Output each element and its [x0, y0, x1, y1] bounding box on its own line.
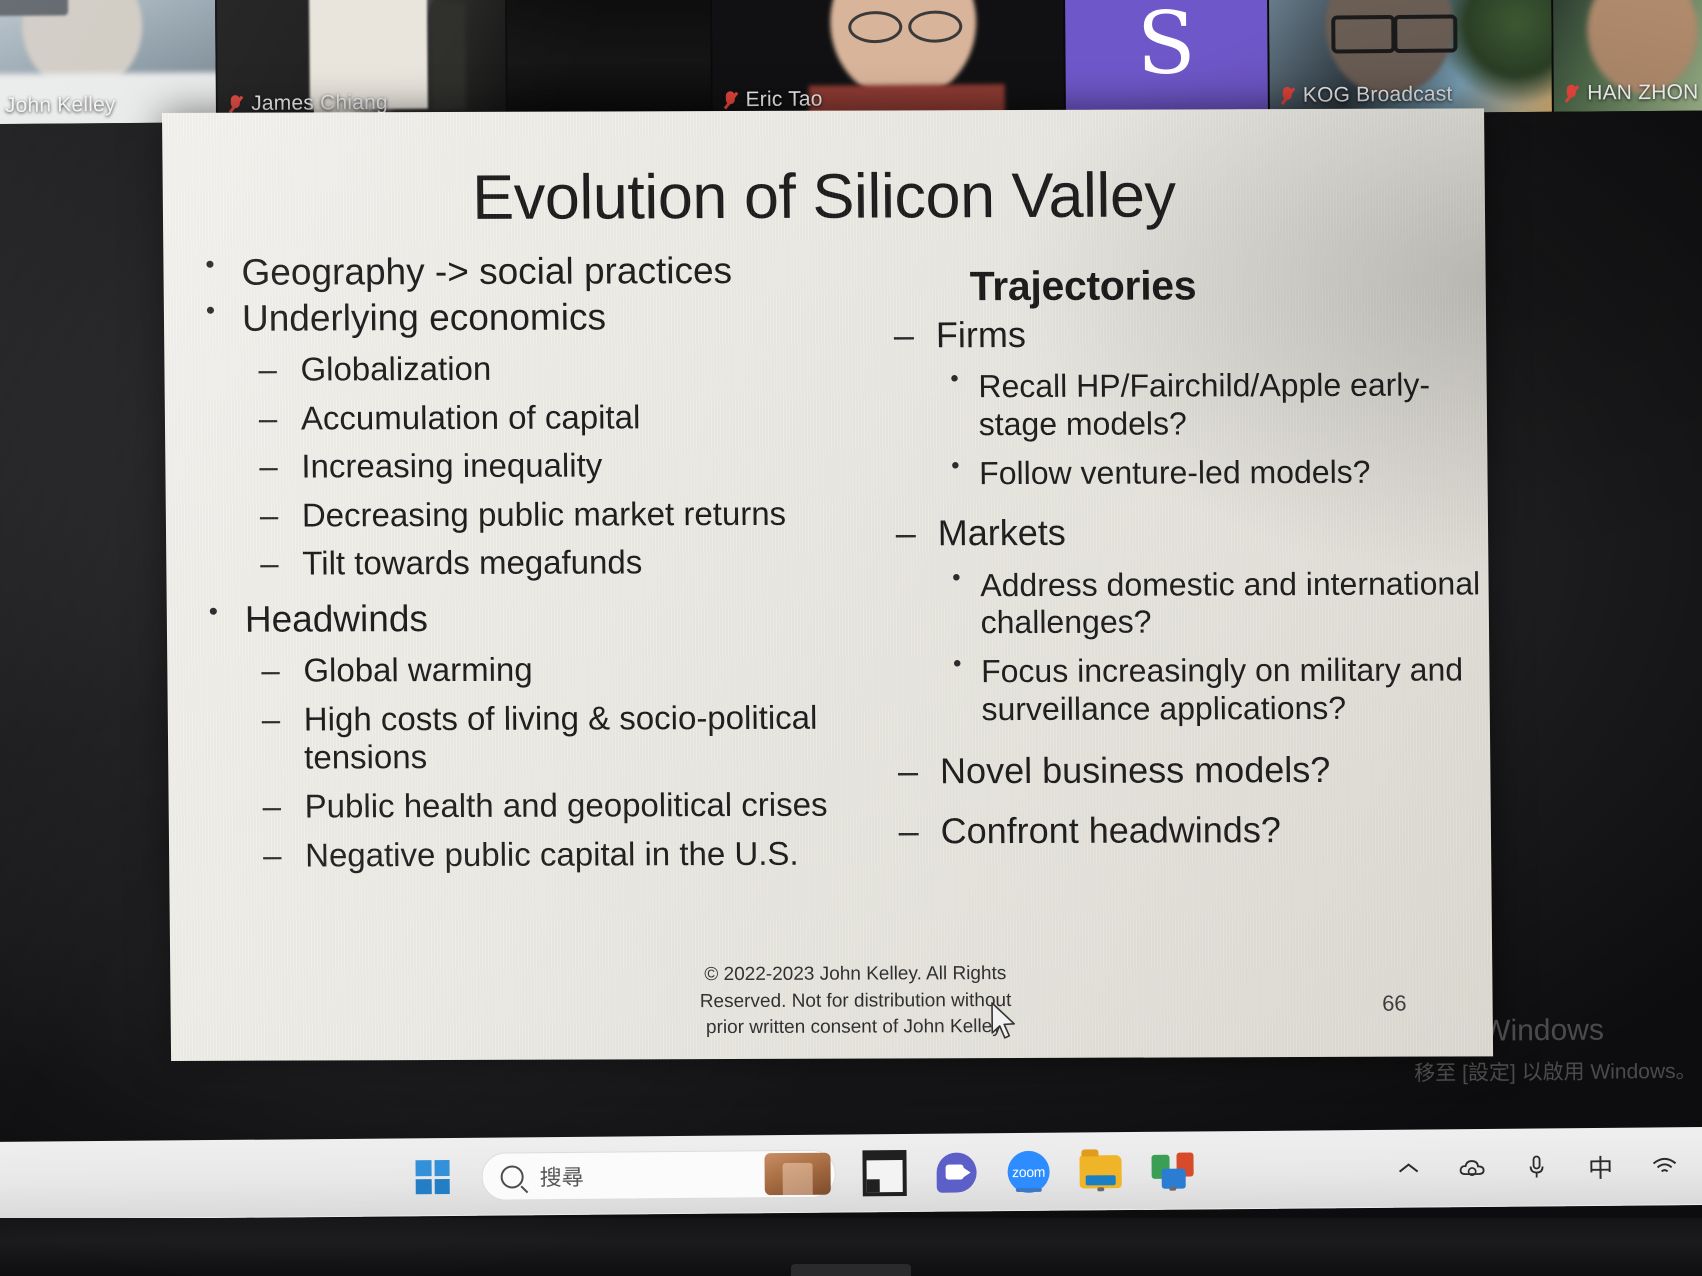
bullet-text: Focus increasingly on military and surve…	[981, 652, 1463, 727]
taskbar-search-box[interactable]: 搜尋	[481, 1150, 835, 1201]
participant-tile[interactable]: James Chiang	[217, 0, 508, 122]
taskbar-app-file-explorer[interactable]	[861, 1150, 907, 1196]
bullet-text: Tilt towards megafunds	[302, 544, 642, 582]
slide-right-column: Firms Recall HP/Fairchild/Apple early-st…	[851, 246, 1491, 874]
bullet-item: Geography -> social practices	[181, 249, 851, 295]
search-highlight-thumbnail[interactable]	[764, 1153, 830, 1196]
glasses-right-shape	[908, 10, 962, 42]
system-tray: 中	[1393, 1151, 1679, 1183]
participant-tile[interactable]: S	[1065, 0, 1270, 116]
participant-name-label: John Kelley	[5, 93, 116, 118]
participant-name-row: Eric Tao	[722, 87, 822, 112]
bullet-item: Firms Recall HP/Fairchild/Apple early-st…	[878, 312, 1488, 493]
participant-name-row: KOG Broadcast	[1280, 83, 1453, 108]
glasses-left-shape	[848, 11, 902, 43]
glasses-left-shape	[1331, 15, 1395, 54]
participant-tile[interactable]	[507, 0, 712, 120]
running-indicator	[1016, 1188, 1042, 1192]
windows-logo-icon	[415, 1160, 449, 1194]
bullet-item: Negative public capital in the U.S.	[247, 834, 857, 875]
bullet-text: Markets	[938, 512, 1066, 553]
bullet-text: High costs of living & socio-political t…	[304, 698, 818, 775]
bullet-item: Recall HP/Fairchild/Apple early-stage mo…	[936, 366, 1487, 443]
windows-activation-watermark: 啟用 Windows 移至 [設定] 以啟用 Windows。	[1413, 1006, 1696, 1089]
chevron-up-icon[interactable]	[1393, 1153, 1423, 1183]
microphone-muted-icon	[1280, 86, 1295, 106]
participant-avatar-letter: S	[1065, 0, 1268, 116]
bullet-text: Underlying economics	[242, 296, 606, 338]
bullet-item: Follow venture-led models?	[937, 453, 1488, 492]
microphone-muted-icon	[1564, 84, 1579, 104]
folder-icon	[1079, 1155, 1121, 1188]
zoom-participant-filmstrip: John Kelley James Chiang Eric Tao S	[0, 0, 1702, 124]
shared-slide[interactable]: Evolution of Silicon Valley Trajectories…	[162, 108, 1493, 1061]
copyright-line-1: © 2022-2023 John Kelley. All Rights	[640, 961, 1070, 989]
bullet-text: Public health and geopolitical crises	[304, 786, 827, 825]
participant-tile[interactable]: Eric Tao	[712, 0, 1066, 118]
participant-tile[interactable]: John Kelley	[0, 0, 218, 124]
participant-name-row: HAN ZHON	[1564, 81, 1698, 106]
wifi-icon[interactable]	[1649, 1151, 1679, 1181]
slide-left-column: Geography -> social practices Underlying…	[163, 249, 857, 878]
taskbar-app-folder[interactable]	[1077, 1148, 1123, 1194]
teams-icon	[936, 1152, 976, 1192]
running-indicator	[1097, 1187, 1104, 1191]
bullet-text: Recall HP/Fairchild/Apple early-stage mo…	[978, 367, 1430, 442]
bullet-item: Public health and geopolitical crises	[246, 785, 856, 826]
microphone-icon[interactable]	[1521, 1152, 1551, 1182]
bullet-text: Decreasing public market returns	[302, 495, 787, 534]
screen-photo: John Kelley James Chiang Eric Tao S	[0, 0, 1702, 1276]
bullet-item: Accumulation of capital	[243, 397, 853, 438]
windows-taskbar: 搜尋 zoom	[0, 1127, 1702, 1220]
participant-tile[interactable]: KOG Broadcast	[1269, 0, 1554, 114]
watermark-line-1: 啟用 Windows	[1413, 1006, 1696, 1053]
bullet-text: Confront headwinds?	[940, 809, 1281, 851]
bullet-list-level3: Address domestic and international chall…	[938, 565, 1490, 729]
slide-title: Evolution of Silicon Valley	[162, 158, 1485, 235]
bullet-item: Novel business models?	[882, 749, 1491, 793]
microphone-muted-icon	[722, 90, 737, 110]
glasses-right-shape	[1393, 15, 1457, 54]
bullet-item: Decreasing public market returns	[244, 494, 854, 535]
taskbar-center-group: 搜尋 zoom	[409, 1146, 1195, 1201]
ime-indicator[interactable]: 中	[1585, 1152, 1615, 1182]
search-icon	[501, 1165, 524, 1188]
participant-video	[1587, 0, 1698, 93]
bullet-item: Increasing inequality	[243, 446, 853, 487]
bullet-text: Global warming	[303, 651, 533, 689]
bullet-item: High costs of living & socio-political t…	[246, 698, 856, 777]
zoom-icon: zoom	[1007, 1151, 1049, 1193]
microphone-muted-icon	[228, 94, 243, 114]
bullet-text: Globalization	[300, 350, 491, 388]
bullet-item: Global warming	[245, 650, 855, 691]
participant-video-background	[1445, 0, 1554, 114]
bullet-text: Address domestic and international chall…	[980, 565, 1480, 640]
participant-name-row: John Kelley	[5, 93, 116, 118]
bullet-text: Negative public capital in the U.S.	[305, 834, 799, 873]
bullet-item: Confront headwinds?	[882, 809, 1491, 853]
slide-body-columns: Geography -> social practices Underlying…	[163, 246, 1491, 877]
cloud-icon[interactable]	[1457, 1153, 1487, 1183]
monitor-bezel	[0, 1218, 1702, 1276]
participant-name-label: KOG Broadcast	[1303, 83, 1453, 108]
bullet-item: Tilt towards megafunds	[244, 543, 854, 584]
taskbar-app-teams[interactable]	[933, 1149, 979, 1195]
taskbar-app-zoom[interactable]: zoom	[1005, 1149, 1051, 1195]
bullet-text: Accumulation of capital	[301, 398, 641, 436]
file-explorer-icon	[862, 1150, 906, 1196]
bullet-item: Focus increasingly on military and surve…	[939, 652, 1490, 729]
bullet-list-level2: Globalization Accumulation of capital In…	[242, 349, 854, 584]
glasses-shape	[0, 0, 68, 16]
taskbar-app-office[interactable]	[1149, 1147, 1195, 1193]
bullet-item: Headwinds Global warming High costs of l…	[185, 596, 857, 875]
bullet-text: Follow venture-led models?	[979, 454, 1371, 491]
search-placeholder: 搜尋	[539, 1160, 583, 1192]
participant-video-figure	[431, 2, 466, 110]
start-button[interactable]	[409, 1154, 455, 1200]
bullet-text: Geography -> social practices	[241, 250, 732, 293]
bullet-text: Increasing inequality	[301, 447, 602, 485]
slide-number: 66	[1382, 991, 1407, 1017]
bullet-item: Markets Address domestic and internation…	[880, 511, 1490, 729]
bullet-list-level3: Recall HP/Fairchild/Apple early-stage mo…	[936, 366, 1487, 492]
bullet-text: Headwinds	[245, 598, 428, 640]
bullet-text: Firms	[936, 314, 1026, 355]
bullet-list-level2: Firms Recall HP/Fairchild/Apple early-st…	[878, 312, 1491, 853]
office-icon	[1151, 1152, 1193, 1188]
participant-tile[interactable]: HAN ZHON	[1553, 0, 1702, 112]
bullet-item: Underlying economics Globalization Accum…	[182, 295, 854, 584]
bullet-item: Globalization	[242, 349, 852, 390]
bullet-list-level1: Geography -> social practices Underlying…	[181, 249, 857, 875]
participant-name-label: HAN ZHON	[1587, 81, 1698, 106]
running-indicator	[1169, 1187, 1176, 1191]
bullet-list-level2: Global warming High costs of living & so…	[245, 650, 857, 875]
participant-name-label: Eric Tao	[745, 87, 822, 112]
bullet-item: Address domestic and international chall…	[938, 565, 1489, 642]
watermark-line-2: 移至 [設定] 以啟用 Windows。	[1414, 1055, 1697, 1089]
bullet-text: Novel business models?	[940, 749, 1331, 791]
